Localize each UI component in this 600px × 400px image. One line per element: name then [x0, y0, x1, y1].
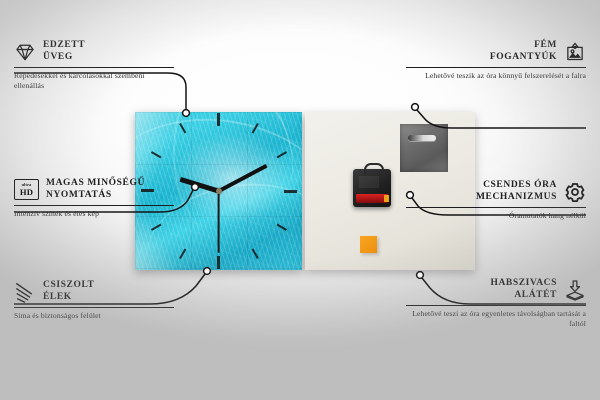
divider	[406, 67, 586, 68]
divider	[14, 67, 174, 68]
callout-title-line1: CSISZOLT	[43, 280, 94, 292]
ultra-hd-icon-main: HD	[20, 188, 33, 197]
callout-title-line1: CSENDES ÓRA	[476, 180, 557, 192]
callout-title-line2: ÉLEK	[43, 292, 94, 304]
divider	[14, 205, 174, 206]
callout-foam-backing: HABSZIVACS ALÁTÉT Lehetővé teszi az óra …	[406, 278, 586, 328]
callout-description: Sima és biztonságos felület	[14, 311, 174, 321]
callout-title-line2: ÜVEG	[43, 52, 85, 64]
ultra-hd-icon: ultra HD	[14, 179, 39, 200]
metal-hanger-plate	[400, 124, 448, 172]
callout-title-line2: ALÁTÉT	[490, 290, 557, 302]
battery	[356, 194, 388, 203]
divider	[406, 207, 586, 208]
callout-description: Óramutatók hang nélkül	[406, 211, 586, 221]
foam-pad	[360, 236, 377, 253]
callout-title-line2: MECHANIZMUS	[476, 192, 557, 204]
callout-description: Intenzív színek és éles kép	[14, 209, 174, 219]
divider	[406, 305, 586, 306]
gear-icon	[564, 181, 586, 203]
callout-high-quality-print: ultra HD MAGAS MINŐSÉGŰ NYOMTATÁS Intenz…	[14, 178, 174, 219]
foam-pad-icon	[564, 279, 586, 301]
divider	[14, 307, 174, 308]
center-pin	[216, 188, 222, 194]
clock-mechanism	[353, 169, 391, 207]
picture-hanger-icon	[564, 41, 586, 63]
callout-title-line1: MAGAS MINŐSÉGŰ	[46, 178, 145, 190]
callout-metal-handles: FÉM FOGANTYÚK Lehetővé teszik az óra kön…	[406, 40, 586, 81]
callout-title-line2: FOGANTYÚK	[490, 52, 557, 64]
callout-polished-edges: CSISZOLT ÉLEK Sima és biztonságos felüle…	[14, 280, 174, 321]
callout-title-line1: FÉM	[490, 40, 557, 52]
diamond-icon	[14, 41, 36, 63]
second-hand	[218, 191, 220, 253]
callout-title-line2: NYOMTATÁS	[46, 190, 145, 202]
callout-silent-movement: CSENDES ÓRA MECHANIZMUS Óramutatók hang …	[406, 180, 586, 221]
callout-tempered-glass: EDZETT ÜVEG Repedésekkel és karcolásokka…	[14, 40, 174, 90]
callout-description: Lehetővé teszi az óra egyenletes távolsá…	[406, 309, 586, 328]
leader-endpoint	[412, 104, 419, 111]
clock-tick	[218, 113, 220, 191]
hanger-keyhole-slot	[408, 135, 436, 141]
callout-description: Repedésekkel és karcolásokkal szembeni e…	[14, 71, 174, 90]
infographic-canvas: EDZETT ÜVEG Repedésekkel és karcolásokka…	[0, 0, 600, 400]
polished-edge-icon	[14, 281, 36, 303]
callout-description: Lehetővé teszik az óra könnyű felszerelé…	[406, 71, 586, 81]
clock-tick	[219, 190, 297, 192]
mechanism-vent	[359, 176, 379, 188]
hanger-loop	[364, 163, 384, 175]
callout-title-line1: EDZETT	[43, 40, 85, 52]
callout-title-line1: HABSZIVACS	[490, 278, 557, 290]
